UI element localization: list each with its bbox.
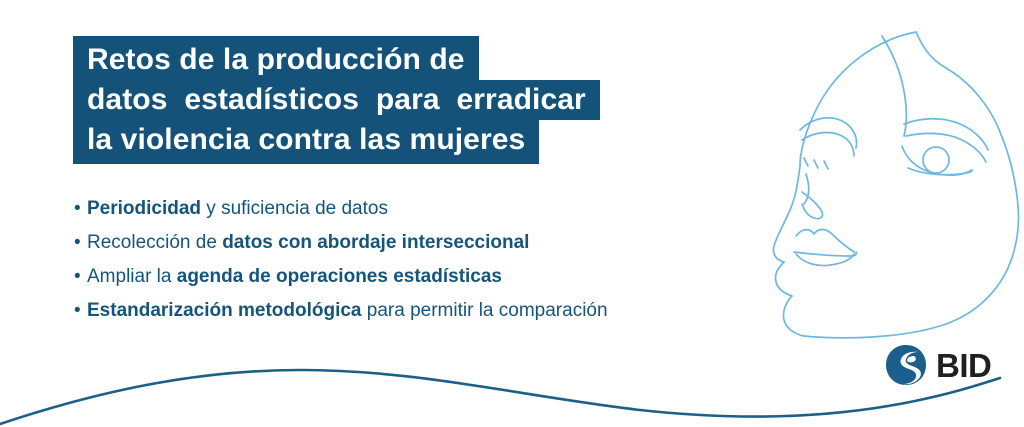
poster-canvas: Retos de la producción de datos estadíst… [0,0,1024,427]
list-item-bold: Estandarización metodológica [87,300,362,321]
title-line-1: Retos de la producción de [73,36,479,80]
wave-divider-icon [0,348,1024,427]
list-item-text: Recolección de datos con abordaje inters… [87,226,529,260]
title-line-2: datos estadísticos para erradicar [73,80,600,120]
page-title: Retos de la producción de datos estadíst… [73,36,600,164]
list-item: • Recolección de datos con abordaje inte… [74,226,794,260]
bullet-marker-icon: • [74,260,87,294]
list-item-regular: y suficiencia de datos [201,198,388,219]
list-item-text: Periodicidad y suficiencia de datos [87,192,388,226]
key-points-list: • Periodicidad y suficiencia de datos • … [74,192,794,328]
bullet-marker-icon: • [74,294,87,328]
bullet-marker-icon: • [74,226,87,260]
list-item-text: Estandarización metodológica para permit… [87,294,608,328]
list-item: • Periodicidad y suficiencia de datos [74,192,794,226]
list-item: • Estandarización metodológica para perm… [74,294,794,328]
bid-wordmark: BID [936,349,991,382]
title-line-3: la violencia contra las mujeres [73,120,539,164]
list-item-bold: Periodicidad [87,198,201,219]
bid-globe-mark-icon [884,343,932,387]
list-item-bold: agenda de operaciones estadísticas [177,266,502,287]
list-item: • Ampliar la agenda de operaciones estad… [74,260,794,294]
woman-face-line-art-icon [756,6,1024,346]
list-item-regular: Ampliar la [87,266,177,287]
list-item-bold: datos con abordaje interseccional [222,232,529,253]
list-item-regular: Recolección de [87,232,222,253]
list-item-text: Ampliar la agenda de operaciones estadís… [87,260,502,294]
bid-logo: BID [884,340,1008,390]
bullet-marker-icon: • [74,192,87,226]
list-item-regular: para permitir la comparación [362,300,608,321]
